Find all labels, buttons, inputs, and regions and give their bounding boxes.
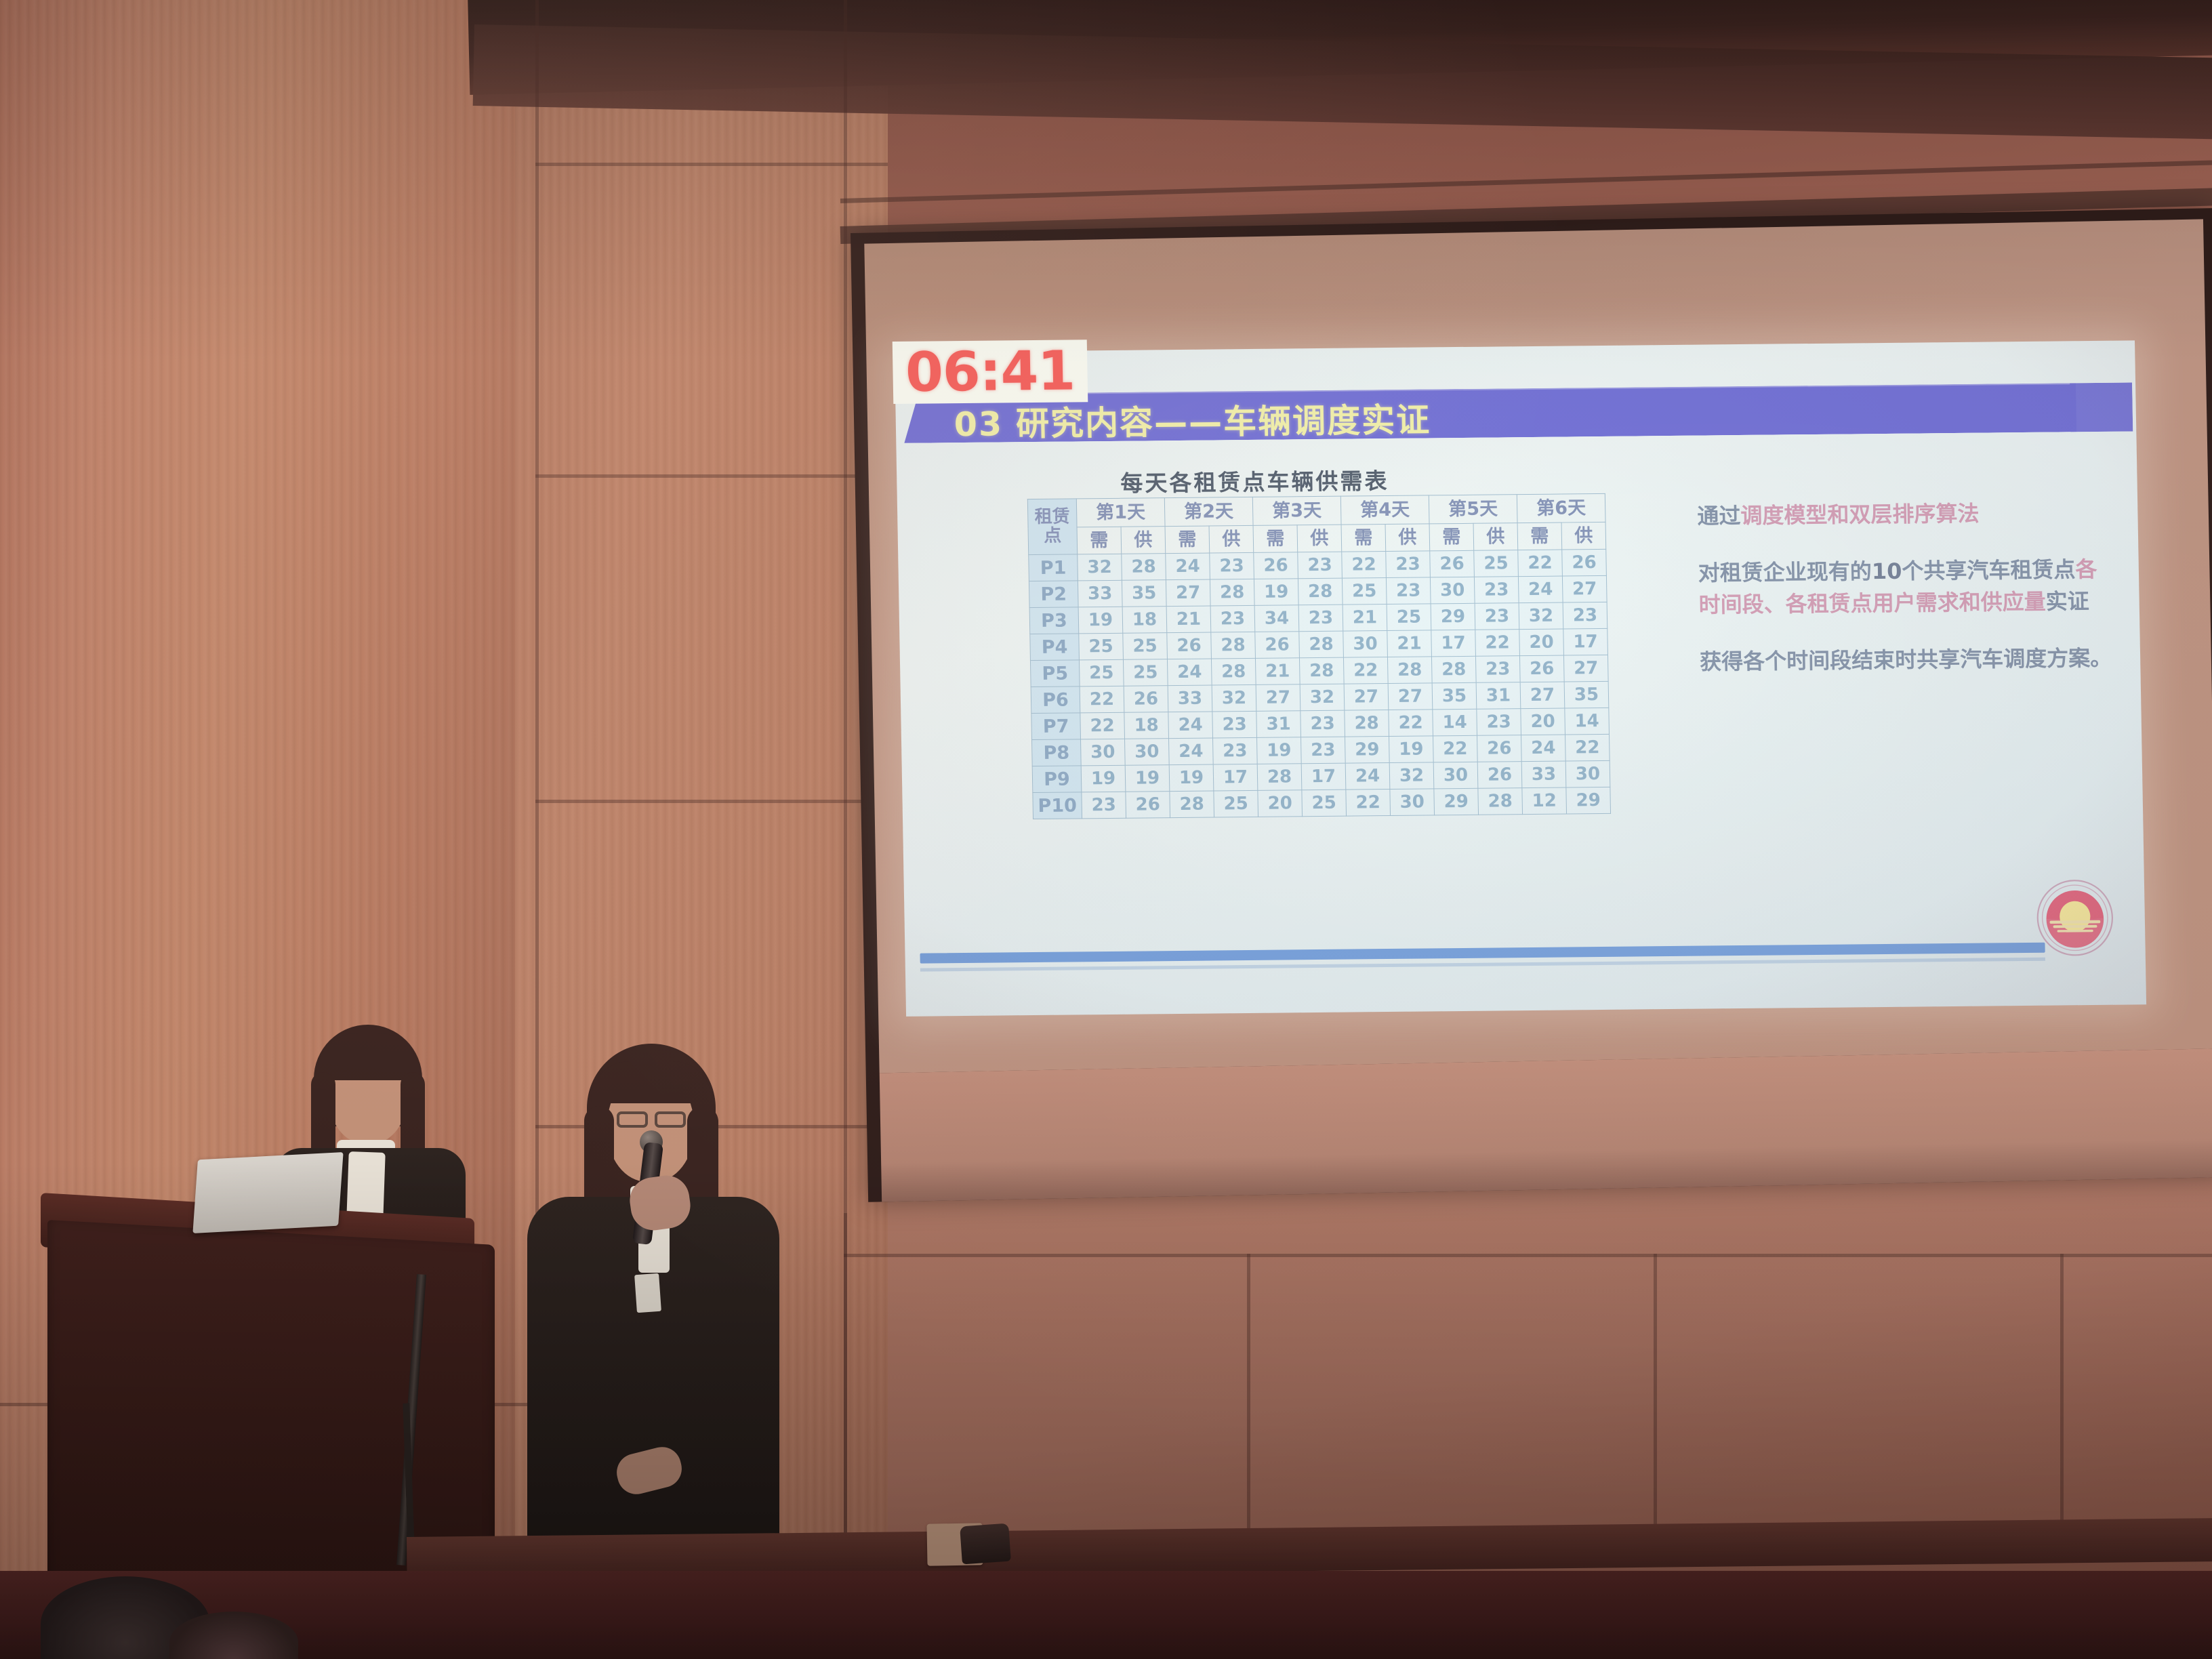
cell-p8-day4-supply: 19 — [1389, 736, 1433, 763]
sub-header-day4-supply: 供 — [1385, 524, 1430, 552]
cell-p9-day2-supply: 17 — [1213, 764, 1258, 791]
sub-header-day5-demand: 需 — [1429, 523, 1474, 551]
cell-p9-day5-supply: 26 — [1477, 762, 1522, 789]
cell-p3-day1-supply: 18 — [1122, 607, 1167, 634]
cell-p2-day5-supply: 23 — [1474, 577, 1519, 604]
sub-header-day2-demand: 需 — [1165, 526, 1210, 554]
row-header-p5: P5 — [1030, 660, 1080, 687]
cell-p7-day1-demand: 22 — [1080, 712, 1125, 739]
cell-p7-day3-demand: 31 — [1256, 711, 1301, 738]
cell-p1-day3-supply: 23 — [1298, 552, 1343, 579]
wall-seam-horizontal-1 — [535, 163, 888, 166]
sub-header-day1-demand: 需 — [1077, 527, 1122, 554]
day-header-4: 第4天 — [1340, 495, 1429, 525]
cell-p9-day4-supply: 32 — [1389, 762, 1434, 790]
cell-p7-day6-demand: 20 — [1521, 708, 1565, 735]
wall-seam-vertical-4 — [1247, 1254, 1250, 1552]
cell-p7-day2-supply: 23 — [1212, 711, 1257, 738]
table-corner-header: 租赁点 — [1027, 499, 1077, 555]
cell-p1-day4-demand: 22 — [1342, 552, 1387, 579]
cell-p10-day2-demand: 28 — [1170, 791, 1214, 818]
cell-p8-day4-demand: 29 — [1345, 737, 1389, 764]
slide-text-segment-2-3: 个共享汽车租赁点 — [1902, 557, 2076, 584]
cell-p5-day1-supply: 25 — [1123, 659, 1168, 687]
cell-p6-day4-demand: 27 — [1344, 684, 1389, 711]
cell-p7-day6-supply: 14 — [1565, 708, 1610, 735]
cell-p6-day3-demand: 27 — [1256, 684, 1300, 712]
cell-p6-day6-demand: 27 — [1520, 682, 1565, 709]
cell-p10-day3-supply: 25 — [1302, 790, 1347, 817]
day-header-3: 第3天 — [1252, 496, 1341, 525]
cell-p4-day6-demand: 20 — [1519, 629, 1564, 656]
cell-p1-day2-demand: 24 — [1166, 553, 1210, 580]
cell-p6-day1-demand: 22 — [1080, 686, 1124, 713]
presentation-timer: 06:41 — [893, 340, 1088, 404]
table-row: P10232628252025223029281229 — [1033, 787, 1611, 819]
cell-p7-day2-demand: 24 — [1168, 712, 1213, 739]
cell-p5-day5-supply: 23 — [1475, 656, 1520, 683]
cell-p7-day5-demand: 14 — [1433, 709, 1477, 736]
cell-p3-day2-demand: 21 — [1166, 606, 1211, 633]
cell-p1-day5-supply: 25 — [1474, 550, 1519, 577]
wall-seam-horizontal-6 — [844, 1254, 2212, 1257]
presenter-2-bangs — [591, 1061, 712, 1103]
cell-p9-day6-demand: 33 — [1521, 761, 1566, 788]
row-header-p1: P1 — [1029, 554, 1078, 581]
sub-header-day4-demand: 需 — [1341, 525, 1386, 552]
stage-floor — [0, 1571, 2212, 1659]
cell-p10-day4-supply: 30 — [1390, 789, 1435, 816]
wall-seam-vertical-6 — [2060, 1254, 2064, 1552]
screen-lower-wall — [880, 1048, 2212, 1202]
cell-p5-day3-demand: 21 — [1255, 658, 1300, 685]
day-header-6: 第6天 — [1517, 493, 1605, 523]
lecture-hall-scene: 03 研究内容——车辆调度实证 每天各租赁点车辆供需表 租赁点 第1天 第2天 … — [0, 0, 2212, 1659]
cell-p7-day5-supply: 23 — [1477, 709, 1521, 736]
cell-p5-day2-demand: 24 — [1167, 659, 1212, 686]
cell-p3-day4-supply: 25 — [1387, 604, 1431, 631]
cell-p8-day1-supply: 30 — [1125, 739, 1170, 766]
presenter-laptop[interactable] — [192, 1152, 343, 1233]
row-header-p9: P9 — [1032, 766, 1082, 793]
sub-header-day5-supply: 供 — [1473, 523, 1518, 551]
slide-text-segment-2-5: 实证 — [2045, 588, 2089, 615]
cell-p2-day3-supply: 28 — [1298, 578, 1343, 605]
timer-value: 06:41 — [905, 344, 1075, 399]
cell-p9-day1-supply: 19 — [1125, 765, 1170, 792]
wall-seam-vertical-3 — [844, 1213, 847, 1552]
cell-p10-day4-demand: 22 — [1346, 789, 1391, 816]
cell-p3-day2-supply: 23 — [1210, 605, 1255, 632]
cell-p5-day4-supply: 28 — [1387, 657, 1432, 684]
cell-p2-day2-demand: 27 — [1166, 579, 1210, 607]
day-header-2: 第2天 — [1164, 497, 1253, 526]
cell-p7-day4-demand: 28 — [1345, 710, 1389, 737]
presenter-2-name-badge — [634, 1273, 661, 1313]
cell-p1-day6-supply: 26 — [1562, 549, 1607, 576]
cell-p3-day6-demand: 32 — [1519, 602, 1563, 630]
cell-p5-day3-supply: 28 — [1299, 657, 1344, 684]
wall-seam-horizontal-3 — [535, 800, 888, 803]
cell-p6-day3-supply: 32 — [1300, 684, 1345, 711]
table-caption: 每天各租赁点车辆供需表 — [1120, 463, 1389, 498]
slide-text-segment-2-1: 对租赁企业现有的 — [1698, 559, 1872, 586]
cell-p4-day5-demand: 17 — [1431, 630, 1476, 657]
slide-paragraph-1: 通过调度模型和双层排序算法 — [1697, 497, 2118, 532]
slide-text-segment-1-1: 通过 — [1697, 503, 1741, 529]
row-header-p4: P4 — [1030, 634, 1080, 661]
cell-p6-day2-demand: 33 — [1168, 685, 1212, 712]
cell-p5-day2-supply: 28 — [1211, 658, 1256, 685]
cell-p10-day1-demand: 23 — [1082, 792, 1126, 819]
day-header-1: 第1天 — [1076, 498, 1165, 527]
cell-p3-day3-demand: 34 — [1254, 605, 1299, 632]
cell-p2-day4-supply: 23 — [1386, 577, 1431, 605]
slide-paragraph-2: 对租赁企业现有的10个共享汽车租赁点各时间段、各租赁点用户需求和供应量实证 — [1698, 554, 2119, 621]
cell-p8-day3-supply: 23 — [1301, 737, 1346, 764]
cell-p10-day1-supply: 26 — [1126, 792, 1170, 819]
slide-paragraph-3: 获得各个时间段结束时共享汽车调度方案。 — [1700, 642, 2121, 678]
cell-p4-day6-supply: 17 — [1563, 628, 1608, 655]
cell-p3-day1-demand: 19 — [1078, 607, 1123, 634]
cell-p6-day6-supply: 35 — [1564, 681, 1609, 708]
cell-p5-day1-demand: 25 — [1079, 659, 1124, 687]
cell-p1-day4-supply: 23 — [1386, 551, 1431, 578]
cell-p8-day2-demand: 24 — [1169, 738, 1214, 765]
cell-p2-day6-demand: 24 — [1518, 576, 1563, 603]
cell-p4-day1-demand: 25 — [1079, 633, 1124, 660]
table-body: P1322824232623222326252226P2333527281928… — [1029, 549, 1611, 819]
cell-p8-day6-demand: 24 — [1521, 735, 1565, 762]
cell-p7-day1-supply: 18 — [1124, 712, 1169, 739]
cell-p10-day6-demand: 12 — [1522, 787, 1567, 815]
slide-title-band-tail — [2070, 382, 2133, 432]
wall-seam-horizontal-2 — [535, 474, 888, 478]
cell-p7-day3-supply: 23 — [1300, 710, 1345, 737]
cell-p10-day3-demand: 20 — [1258, 790, 1303, 817]
cell-p6-day2-supply: 32 — [1212, 684, 1256, 712]
cell-p2-day2-supply: 28 — [1210, 579, 1254, 606]
slide-text-segment-2-2: 10 — [1872, 558, 1902, 584]
cell-p9-day2-demand: 19 — [1169, 764, 1214, 792]
cell-p5-day6-demand: 26 — [1519, 655, 1564, 682]
cell-p6-day1-supply: 26 — [1124, 686, 1168, 713]
cell-p2-day4-demand: 25 — [1342, 578, 1387, 605]
cell-p3-day4-demand: 21 — [1343, 605, 1387, 632]
row-header-p2: P2 — [1029, 581, 1078, 608]
sub-header-day2-supply: 供 — [1209, 525, 1254, 553]
cell-p8-day6-supply: 22 — [1565, 734, 1610, 761]
cell-p3-day5-supply: 23 — [1475, 603, 1519, 630]
cell-p4-day1-supply: 25 — [1123, 633, 1168, 660]
row-header-p6: P6 — [1031, 687, 1080, 714]
cell-p9-day5-demand: 30 — [1433, 762, 1478, 789]
cell-p6-day5-demand: 35 — [1432, 682, 1477, 710]
cell-p10-day6-supply: 29 — [1566, 787, 1611, 814]
cell-p9-day6-supply: 30 — [1565, 760, 1610, 787]
cell-p4-day4-demand: 30 — [1343, 631, 1388, 658]
row-header-p7: P7 — [1031, 713, 1081, 740]
cell-p2-day1-supply: 35 — [1122, 580, 1166, 607]
cell-p6-day5-supply: 31 — [1476, 682, 1521, 710]
row-header-p8: P8 — [1032, 739, 1082, 766]
cell-p8-day3-demand: 19 — [1257, 737, 1302, 764]
cell-p3-day5-demand: 29 — [1431, 603, 1475, 630]
cell-p9-day3-supply: 17 — [1301, 763, 1346, 790]
supply-demand-table: 租赁点 第1天 第2天 第3天 第4天 第5天 第6天 需供需供需供需供需供需供… — [1027, 493, 1611, 819]
cell-p10-day2-supply: 25 — [1214, 790, 1258, 817]
competition-seal-logo — [2033, 878, 2117, 958]
sub-header-day1-supply: 供 — [1121, 527, 1166, 554]
presenter-1-collar — [346, 1151, 385, 1221]
cell-p4-day3-supply: 28 — [1299, 631, 1344, 658]
cell-p5-day6-supply: 27 — [1563, 655, 1608, 682]
cell-p8-day5-demand: 22 — [1433, 735, 1477, 762]
cell-p5-day5-demand: 28 — [1431, 656, 1476, 683]
cell-p8-day5-supply: 26 — [1477, 735, 1521, 762]
cell-p3-day6-supply: 23 — [1563, 602, 1607, 629]
sub-header-day3-supply: 供 — [1297, 525, 1342, 552]
cell-p5-day4-demand: 22 — [1343, 657, 1388, 684]
cell-p8-day1-demand: 30 — [1081, 739, 1126, 766]
cell-p2-day5-demand: 30 — [1430, 577, 1475, 604]
cell-p4-day2-demand: 26 — [1167, 632, 1212, 659]
cell-p9-day3-demand: 28 — [1257, 764, 1302, 791]
cell-p8-day2-supply: 23 — [1213, 737, 1258, 764]
cell-p3-day3-supply: 23 — [1298, 605, 1343, 632]
cell-p6-day4-supply: 27 — [1388, 683, 1433, 710]
wall-seam-vertical-5 — [1654, 1254, 1657, 1552]
cell-p4-day4-supply: 21 — [1387, 630, 1432, 657]
cell-p4-day3-demand: 26 — [1255, 632, 1300, 659]
cell-p2-day1-demand: 33 — [1078, 580, 1122, 607]
cell-p9-day4-demand: 24 — [1345, 762, 1390, 790]
cell-p4-day5-supply: 22 — [1475, 630, 1520, 657]
presenter-2-glasses-left — [617, 1111, 648, 1128]
cell-p1-day5-demand: 26 — [1430, 550, 1475, 577]
cell-p1-day2-supply: 23 — [1210, 552, 1254, 579]
sub-header-day3-demand: 需 — [1253, 525, 1298, 553]
cell-p2-day6-supply: 27 — [1562, 575, 1607, 602]
sub-header-day6-demand: 需 — [1517, 523, 1562, 550]
cell-p10-day5-demand: 29 — [1434, 788, 1479, 815]
slide-text-segment-3-1: 获得各个时间段结束时共享汽车调度方案。 — [1700, 645, 2112, 675]
table-head: 租赁点 第1天 第2天 第3天 第4天 第5天 第6天 需供需供需供需供需供需供 — [1027, 493, 1605, 554]
cell-p1-day1-supply: 28 — [1122, 554, 1166, 581]
cell-p10-day5-supply: 28 — [1478, 788, 1523, 815]
cell-p1-day6-demand: 22 — [1518, 550, 1563, 577]
slide-body-text: 通过调度模型和双层排序算法对租赁企业现有的10个共享汽车租赁点各时间段、各租赁点… — [1697, 497, 2121, 703]
presenter-2-glasses-right — [655, 1111, 686, 1128]
row-header-p3: P3 — [1029, 607, 1079, 634]
cell-p2-day3-demand: 19 — [1254, 579, 1298, 606]
row-header-p10: P10 — [1033, 792, 1082, 819]
cell-p1-day1-demand: 32 — [1078, 554, 1122, 581]
cell-p4-day2-supply: 28 — [1211, 632, 1256, 659]
cell-p1-day3-demand: 26 — [1254, 552, 1298, 579]
cell-p7-day4-supply: 22 — [1389, 710, 1433, 737]
cell-p9-day1-demand: 19 — [1081, 765, 1126, 792]
slide-text-segment-1-2: 调度模型和双层排序算法 — [1740, 501, 1980, 529]
floor-object — [960, 1523, 1011, 1565]
day-header-5: 第5天 — [1429, 495, 1517, 524]
sub-header-day6-supply: 供 — [1561, 522, 1606, 550]
projected-slide: 03 研究内容——车辆调度实证 每天各租赁点车辆供需表 租赁点 第1天 第2天 … — [895, 340, 2146, 1016]
